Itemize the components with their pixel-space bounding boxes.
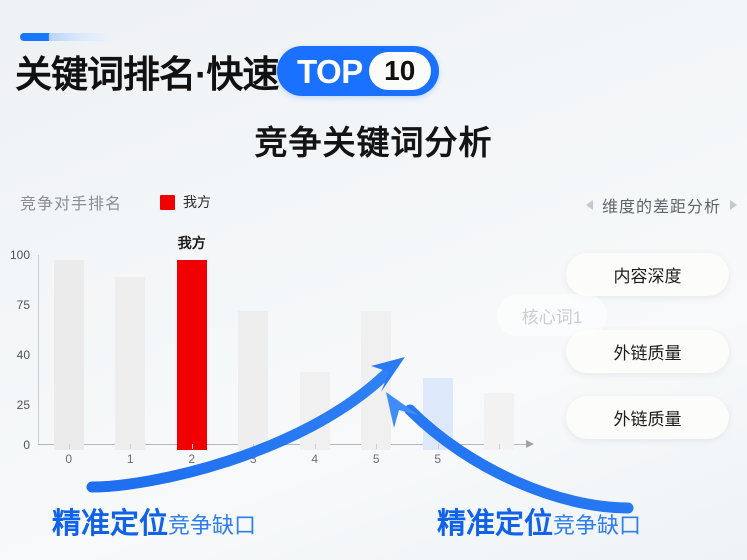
bar (54, 260, 84, 450)
plot-area: 我方 (38, 255, 530, 450)
headline-text: 关键词排名·快速 (15, 56, 278, 93)
badge-number: 10 (384, 57, 415, 85)
x-axis-gridmark (192, 444, 193, 449)
dimension-gap-header: 维度的差距分析 (586, 193, 737, 217)
dimension-card-1[interactable]: 外链质量 (566, 330, 729, 373)
accent-bar (20, 33, 112, 41)
bar (484, 393, 514, 450)
y-axis-tick: 25 (0, 398, 30, 412)
bar (300, 372, 330, 450)
dimension-card-label: 内容深度 (614, 262, 682, 287)
chevron-left-icon (586, 200, 593, 210)
dimension-card-0[interactable]: 内容深度 (566, 253, 729, 296)
x-axis-tick: 4 (311, 452, 318, 466)
caption-left: 精准定位 竞争缺口 (52, 500, 256, 542)
caption-left-strong: 精准定位 (52, 500, 168, 542)
x-axis-gridmark (69, 444, 70, 449)
bar (361, 311, 391, 450)
x-axis-tick: 2 (188, 452, 195, 466)
x-axis-tick: 5 (434, 452, 441, 466)
page-headline: 关键词排名·快速 (15, 48, 278, 100)
x-axis-tick: 1 (127, 452, 134, 466)
legend-label: 我方 (183, 192, 211, 212)
chart-legend: 竞争对手排名 我方 (20, 190, 211, 214)
caption-right: 精准定位 竞争缺口 (437, 500, 641, 542)
dimension-card-label: 外链质量 (614, 405, 682, 430)
dimension-gap-title: 维度的差距分析 (602, 193, 721, 217)
x-axis-gridmark (499, 444, 500, 449)
top-badge: TOP 10 (277, 46, 439, 96)
bar-highlight (177, 260, 207, 450)
y-axis-tick: 100 (0, 248, 30, 262)
bar-highlight-label: 我方 (178, 233, 206, 253)
x-axis-tick: 3 (250, 452, 257, 466)
bar (238, 311, 268, 450)
legend-entry-us: 我方 (160, 192, 211, 212)
core-keyword-ghost-pill: 核心词1 (497, 294, 607, 336)
bar (423, 378, 453, 450)
x-axis-gridmark (253, 444, 254, 449)
y-axis-tick: 40 (0, 348, 30, 362)
x-axis-gridmark (315, 444, 316, 449)
caption-left-weak: 竞争缺口 (168, 508, 256, 540)
y-axis-tick: 0 (0, 438, 30, 452)
legend-swatch-icon (160, 195, 175, 210)
chevron-right-icon (730, 200, 737, 210)
x-axis-gridmark (376, 444, 377, 449)
bar (115, 277, 145, 450)
page-subtitle: 竞争关键词分析 (0, 116, 747, 164)
caption-right-strong: 精准定位 (437, 500, 553, 542)
x-axis-tick: 0 (65, 452, 72, 466)
y-axis-tick: 75 (0, 298, 30, 312)
competitor-ranking-chart: 竞争对手排名 我方 0254075100 我方 0123455 (0, 190, 545, 490)
x-axis-gridmark (130, 444, 131, 449)
x-axis-tick: 5 (373, 452, 380, 466)
dimension-card-label: 外链质量 (614, 339, 682, 364)
chart-legend-title: 竞争对手排名 (20, 190, 122, 214)
dimension-card-2[interactable]: 外链质量 (566, 396, 729, 439)
caption-right-weak: 竞争缺口 (553, 508, 641, 540)
badge-number-pill: 10 (369, 52, 431, 90)
x-axis-gridmark (438, 444, 439, 449)
badge-top-label: TOP (297, 55, 363, 88)
